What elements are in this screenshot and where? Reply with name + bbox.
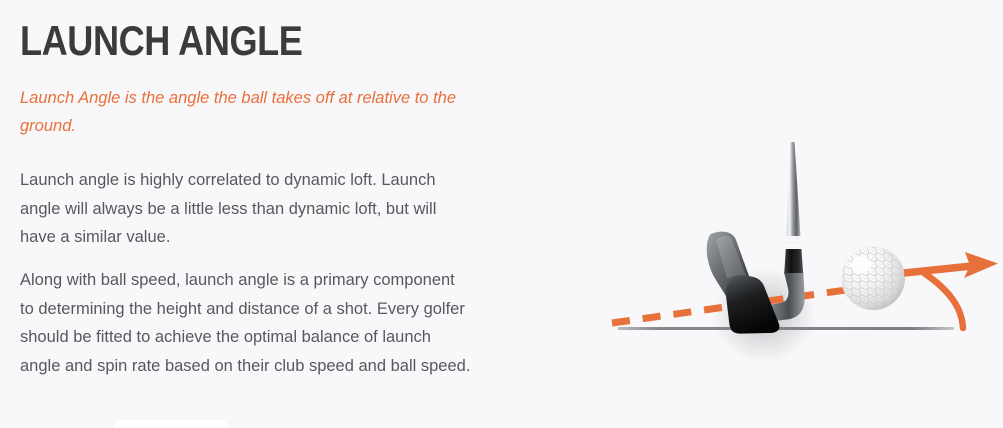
golf-ball bbox=[841, 246, 905, 310]
ground-line bbox=[618, 327, 954, 330]
launch-angle-page: LAUNCH ANGLE Launch Angle is the angle t… bbox=[0, 0, 1003, 428]
shaft-rings bbox=[786, 238, 801, 247]
text-column: LAUNCH ANGLE Launch Angle is the angle t… bbox=[18, 0, 488, 428]
golf-ball-specular bbox=[851, 257, 871, 274]
club-ferrule bbox=[784, 249, 803, 274]
launch-direction-arrow bbox=[904, 252, 998, 278]
golf-launch-angle-illustration bbox=[560, 110, 1003, 370]
cta-button[interactable] bbox=[113, 420, 228, 428]
club-shaft bbox=[787, 142, 801, 236]
launch-angle-arc bbox=[924, 273, 963, 328]
subtitle-definition: Launch Angle is the angle the ball takes… bbox=[20, 84, 462, 140]
body-paragraph-2: Along with ball speed, launch angle is a… bbox=[20, 266, 472, 380]
body-paragraph-1: Launch angle is highly correlated to dyn… bbox=[20, 166, 472, 252]
page-title: LAUNCH ANGLE bbox=[20, 18, 302, 64]
